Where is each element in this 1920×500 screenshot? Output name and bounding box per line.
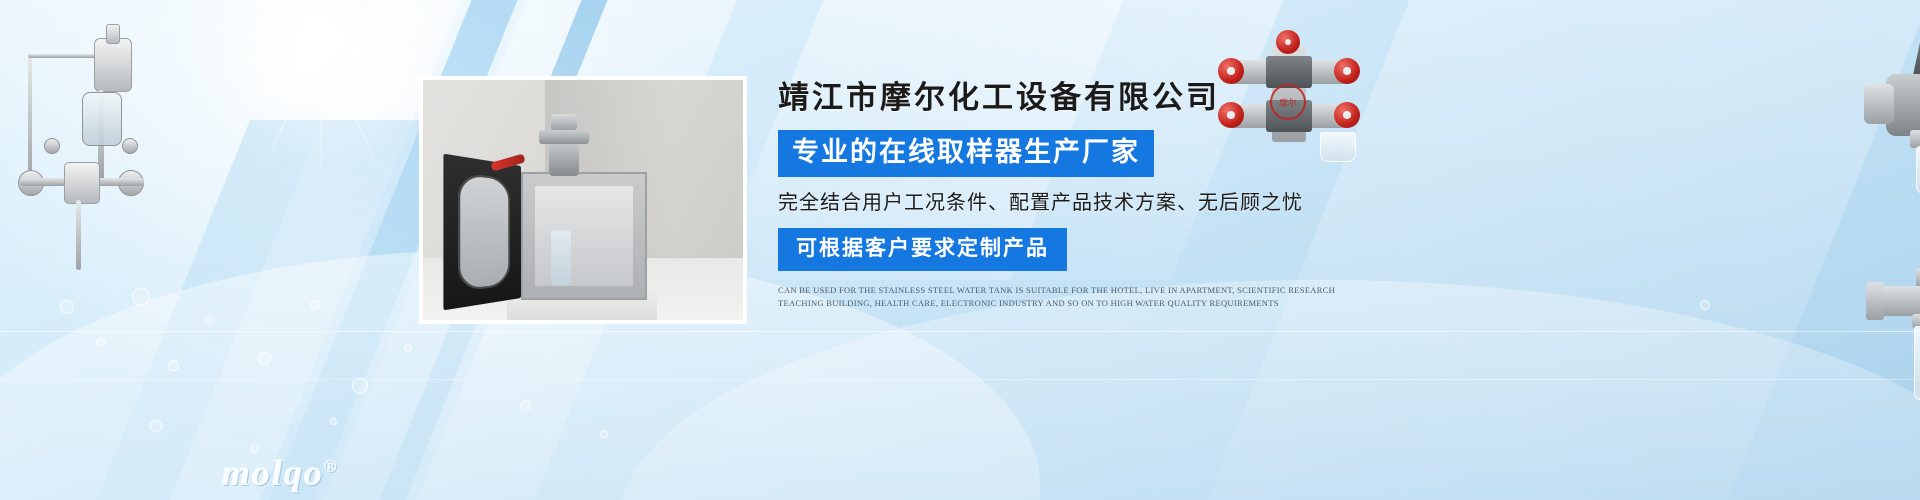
english-description: CAN BE USED FOR THE STAINLESS STEEL WATE…: [778, 284, 1378, 310]
brand-watermark-text: molqo: [222, 453, 324, 493]
inline-sampler-bottom-right-image: [1876, 228, 1920, 408]
valve-body-top-right-image: [1880, 26, 1920, 196]
company-name: 靖江市摩尔化工设备有限公司: [778, 78, 1398, 118]
product-photo: [419, 76, 747, 324]
custom-product-callout: 可根据客户要求定制产品: [778, 228, 1067, 271]
promo-banner: 摩尔 靖江市摩尔化工设备有限公司 专业的在线取样器生产厂家: [0, 0, 1920, 500]
headline-badge: 专业的在线取样器生产厂家: [778, 130, 1154, 177]
banner-text-block: 靖江市摩尔化工设备有限公司 专业的在线取样器生产厂家 完全结合用户工况条件、配置…: [778, 78, 1398, 310]
brand-watermark: molqo®: [222, 452, 339, 494]
sampler-equipment-left-image: [10, 20, 160, 280]
registered-trademark-icon: ®: [324, 457, 339, 476]
sub-headline: 完全结合用户工况条件、配置产品技术方案、无后顾之忧: [778, 190, 1398, 216]
background-horizon-line: [0, 331, 1920, 332]
background-horizon-line-secondary: [0, 379, 1920, 380]
